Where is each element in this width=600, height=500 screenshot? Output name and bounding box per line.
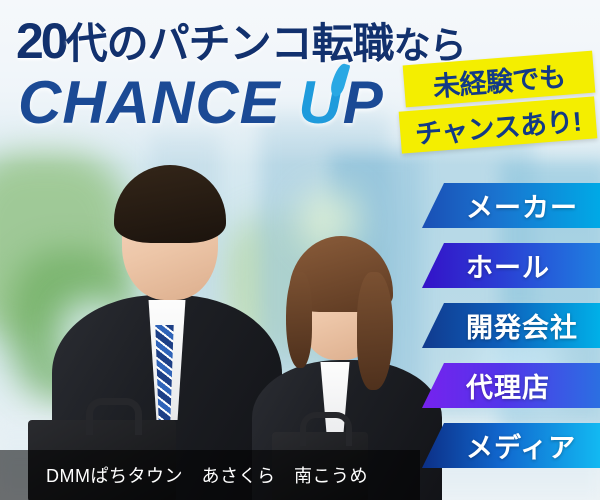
headline-suffix: なら [394,25,466,66]
tag-label: 代理店 [466,366,550,405]
tag-label: 開発会社 [466,306,578,345]
logo-letter-p: P [343,69,384,136]
headline-number: 20 [16,13,66,69]
headline-body: 代のパチンコ転職 [66,20,394,67]
businesswoman-bag-handle [300,412,352,446]
page-title: 20代のパチンコ転職なら [16,16,466,66]
tag-development-company[interactable]: 開発会社 [422,303,600,348]
badge-label: 未経験でも [431,54,566,103]
tag-hall[interactable]: ホール [422,243,600,288]
logo-word-chance: CHANCE [18,69,298,136]
businesswoman-hair-side [357,272,393,390]
caption-text: DMMぱちタウン あさくら 南こうめ [46,462,368,488]
caption-bar: DMMぱちタウン あさくら 南こうめ [0,450,420,500]
tag-media[interactable]: メディア [422,423,600,468]
tag-label: メーカー [466,186,578,225]
promo-banner: 20代のパチンコ転職なら CHANCE UP 未経験でも チャンスあり! メーカ… [0,0,600,500]
businesswoman-hair-side [286,272,312,368]
tag-maker[interactable]: メーカー [422,183,600,228]
logo-letter-u: U [298,73,342,133]
businessman-bag-handle [86,398,142,435]
logo-chance-up: CHANCE UP [18,73,384,133]
tag-agency[interactable]: 代理店 [422,363,600,408]
tag-label: メディア [466,426,576,465]
tag-label: ホール [466,246,550,285]
